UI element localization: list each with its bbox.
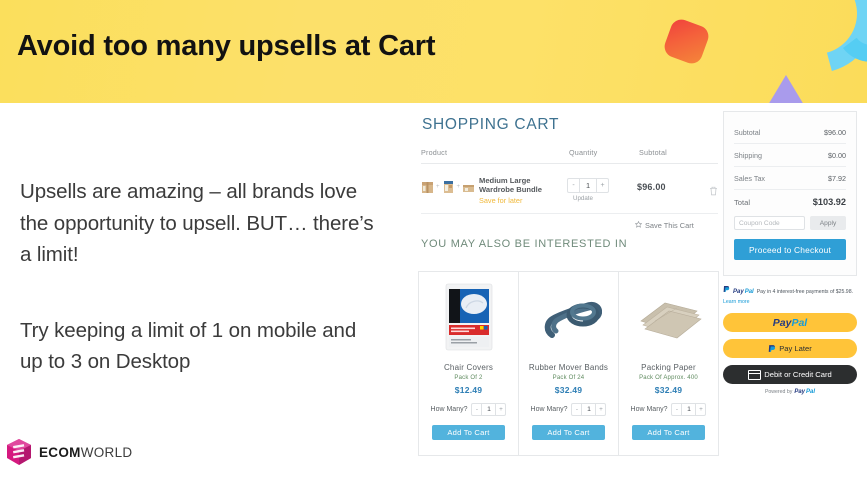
upsell-quantity-row[interactable]: How Many? - 1 + [631, 403, 707, 416]
upsell-quantity-decrease[interactable]: - [472, 404, 481, 415]
upsell-card-packing-paper[interactable]: Packing Paper Pack Of Approx. 400 $32.49… [619, 272, 718, 455]
paypal-pay-later-button[interactable]: Pay Later [723, 339, 857, 358]
summary-label: Sales Tax [734, 174, 765, 183]
add-to-cart-button[interactable]: Add To Cart [632, 425, 705, 440]
upsell-product-grid: Chair Covers Pack Of 2 $12.49 How Many? … [418, 271, 719, 456]
upsell-name: Rubber Mover Bands [529, 363, 608, 372]
credit-card-icon [748, 370, 761, 380]
add-to-cart-button[interactable]: Add To Cart [532, 425, 605, 440]
column-header-product: Product [421, 148, 447, 157]
upsell-quantity-row[interactable]: How Many? - 1 + [431, 403, 507, 416]
paypal-btn-pay: Pay [773, 317, 792, 329]
proceed-to-checkout-button[interactable]: Proceed to Checkout [734, 239, 846, 260]
wardrobe-box-icon [421, 179, 434, 195]
shopping-cart-screenshot: SHOPPING CART Product Quantity Subtotal … [403, 103, 867, 478]
paypal-small-icon [723, 285, 730, 296]
summary-label: Shipping [734, 151, 762, 160]
logo-world: WORLD [81, 445, 133, 460]
coupon-row[interactable]: Coupon Code Apply [734, 216, 846, 230]
upsell-quantity-value[interactable]: 1 [481, 404, 496, 415]
upsell-quantity-value[interactable]: 1 [581, 404, 596, 415]
paypal-note-text: Pay in 4 interest-free payments of $25.9… [757, 289, 853, 296]
chair-covers-product-image [432, 280, 505, 353]
upsell-quantity-value[interactable]: 1 [681, 404, 696, 415]
upsell-pack: Pack Of 24 [553, 375, 585, 381]
quantity-value[interactable]: 1 [579, 179, 597, 192]
column-header-subtotal: Subtotal [639, 148, 667, 157]
paypal-pay-later-label: Pay Later [779, 344, 812, 353]
remove-item-trash-icon[interactable] [709, 183, 718, 201]
logo-ecom: ECOM [39, 445, 81, 460]
upsell-card-chair-covers[interactable]: Chair Covers Pack Of 2 $12.49 How Many? … [419, 272, 519, 455]
upsell-quantity-stepper[interactable]: - 1 + [671, 403, 706, 416]
upsell-name: Chair Covers [444, 363, 493, 372]
paypal-btn-pal: Pal [791, 317, 807, 329]
summary-row-sales-tax: Sales Tax $7.92 [734, 167, 846, 190]
wardrobe-accessory-icon [462, 179, 475, 195]
purple-triangle-icon [768, 75, 804, 103]
ecomworld-cube-icon [6, 438, 32, 466]
upsell-how-many-label: How Many? [531, 406, 568, 413]
upsell-pack: Pack Of Approx. 400 [639, 375, 698, 381]
upsell-how-many-label: How Many? [431, 406, 468, 413]
cart-heading: SHOPPING CART [422, 116, 559, 134]
body-paragraph-1: Upsells are amazing – all brands love th… [20, 176, 375, 271]
plus-separator-icon: + [436, 184, 440, 190]
summary-total-label: Total [734, 198, 750, 207]
debit-credit-card-button[interactable]: Debit or Credit Card [723, 365, 857, 384]
upsell-quantity-increase[interactable]: + [596, 404, 605, 415]
upsell-quantity-decrease[interactable]: - [572, 404, 581, 415]
upsell-price: $32.49 [655, 385, 683, 395]
save-for-later-link[interactable]: Save for later [479, 196, 522, 205]
powered-pay: Pay [794, 389, 805, 395]
powered-by-wordmark: PayPal [794, 389, 815, 395]
upsell-quantity-row[interactable]: How Many? - 1 + [531, 403, 607, 416]
upsell-price: $32.49 [555, 385, 583, 395]
upsell-name: Packing Paper [641, 363, 696, 372]
body-copy: Upsells are amazing – all brands love th… [20, 176, 375, 378]
upsell-pack: Pack Of 2 [454, 375, 482, 381]
upsell-card-rubber-mover-bands[interactable]: Rubber Mover Bands Pack Of 24 $32.49 How… [519, 272, 619, 455]
summary-row-subtotal: Subtotal $96.00 [734, 121, 846, 144]
upsell-how-many-label: How Many? [631, 406, 668, 413]
brand-logo: ECOMWORLD [6, 438, 132, 466]
paypal-mark-icon [768, 340, 776, 358]
line-item-name: Medium Large Wardrobe Bundle [479, 176, 565, 195]
summary-value: $96.00 [824, 128, 846, 137]
upsell-quantity-decrease[interactable]: - [672, 404, 681, 415]
quantity-increase-button[interactable]: + [597, 179, 608, 192]
add-to-cart-button[interactable]: Add To Cart [432, 425, 505, 440]
cart-line-item-row: + + Medium Large Wardrobe Bundle Save fo… [421, 169, 718, 214]
paypal-block: PayPal Pay in 4 interest-free payments o… [723, 285, 857, 395]
body-paragraph-2: Try keeping a limit of 1 on mobile and u… [20, 315, 375, 378]
powered-pal: Pal [806, 389, 815, 395]
upsell-quantity-increase[interactable]: + [696, 404, 705, 415]
summary-value: $0.00 [828, 151, 846, 160]
summary-label: Subtotal [734, 128, 760, 137]
paypal-checkout-button[interactable]: PayPal [723, 313, 857, 332]
debit-credit-card-label: Debit or Credit Card [764, 370, 832, 379]
upsell-price: $12.49 [455, 385, 483, 395]
line-item-thumbnails: + + [421, 179, 475, 195]
packing-paper-product-image [632, 280, 705, 353]
quantity-stepper[interactable]: - 1 + [567, 178, 609, 193]
summary-total-value: $103.92 [813, 197, 846, 207]
logo-wordmark: ECOMWORLD [39, 445, 132, 460]
coupon-code-input[interactable]: Coupon Code [734, 216, 805, 230]
upsell-section-heading: YOU MAY ALSO BE INTERESTED IN [421, 238, 627, 250]
upsell-quantity-increase[interactable]: + [496, 404, 505, 415]
paypal-inline-wordmark: PayPal [733, 289, 754, 296]
header-band: Avoid too many upsells at Cart [0, 0, 867, 103]
summary-value: $7.92 [828, 174, 846, 183]
slide-root: Avoid too many upsells at Cart Upsells a… [0, 0, 867, 478]
upsell-quantity-stepper[interactable]: - 1 + [571, 403, 606, 416]
summary-row-shipping: Shipping $0.00 [734, 144, 846, 167]
update-quantity-link[interactable]: Update [573, 195, 593, 202]
paypal-learn-more-link[interactable]: Learn more [723, 299, 750, 306]
save-this-cart-button[interactable]: Save This Cart [635, 221, 694, 230]
plus-separator-icon-2: + [457, 184, 461, 190]
cart-table-header: Product Quantity Subtotal [421, 148, 718, 164]
star-icon [635, 221, 642, 230]
paypal-pay-later-message: PayPal Pay in 4 interest-free payments o… [723, 285, 857, 306]
upsell-quantity-stepper[interactable]: - 1 + [471, 403, 506, 416]
save-this-cart-label: Save This Cart [645, 221, 694, 230]
paypal-word-pal: Pal [745, 289, 754, 296]
quantity-decrease-button[interactable]: - [568, 179, 579, 192]
powered-by-paypal: Powered by PayPal [723, 389, 857, 395]
order-summary-panel: Subtotal $96.00 Shipping $0.00 Sales Tax… [723, 111, 857, 276]
column-header-quantity: Quantity [569, 148, 597, 157]
summary-row-total: Total $103.92 [734, 190, 846, 214]
powered-by-label: Powered by [765, 389, 792, 395]
rubber-mover-bands-product-image [532, 280, 605, 353]
paypal-word-pay: Pay [733, 289, 744, 296]
wardrobe-box-tall-icon [442, 179, 455, 195]
orange-rounded-square-icon [662, 17, 712, 67]
paragraph-spacer [20, 271, 375, 315]
line-item-subtotal: $96.00 [637, 182, 666, 192]
page-title: Avoid too many upsells at Cart [17, 30, 435, 63]
paypal-button-wordmark: PayPal [773, 317, 807, 329]
apply-coupon-button[interactable]: Apply [810, 216, 846, 230]
